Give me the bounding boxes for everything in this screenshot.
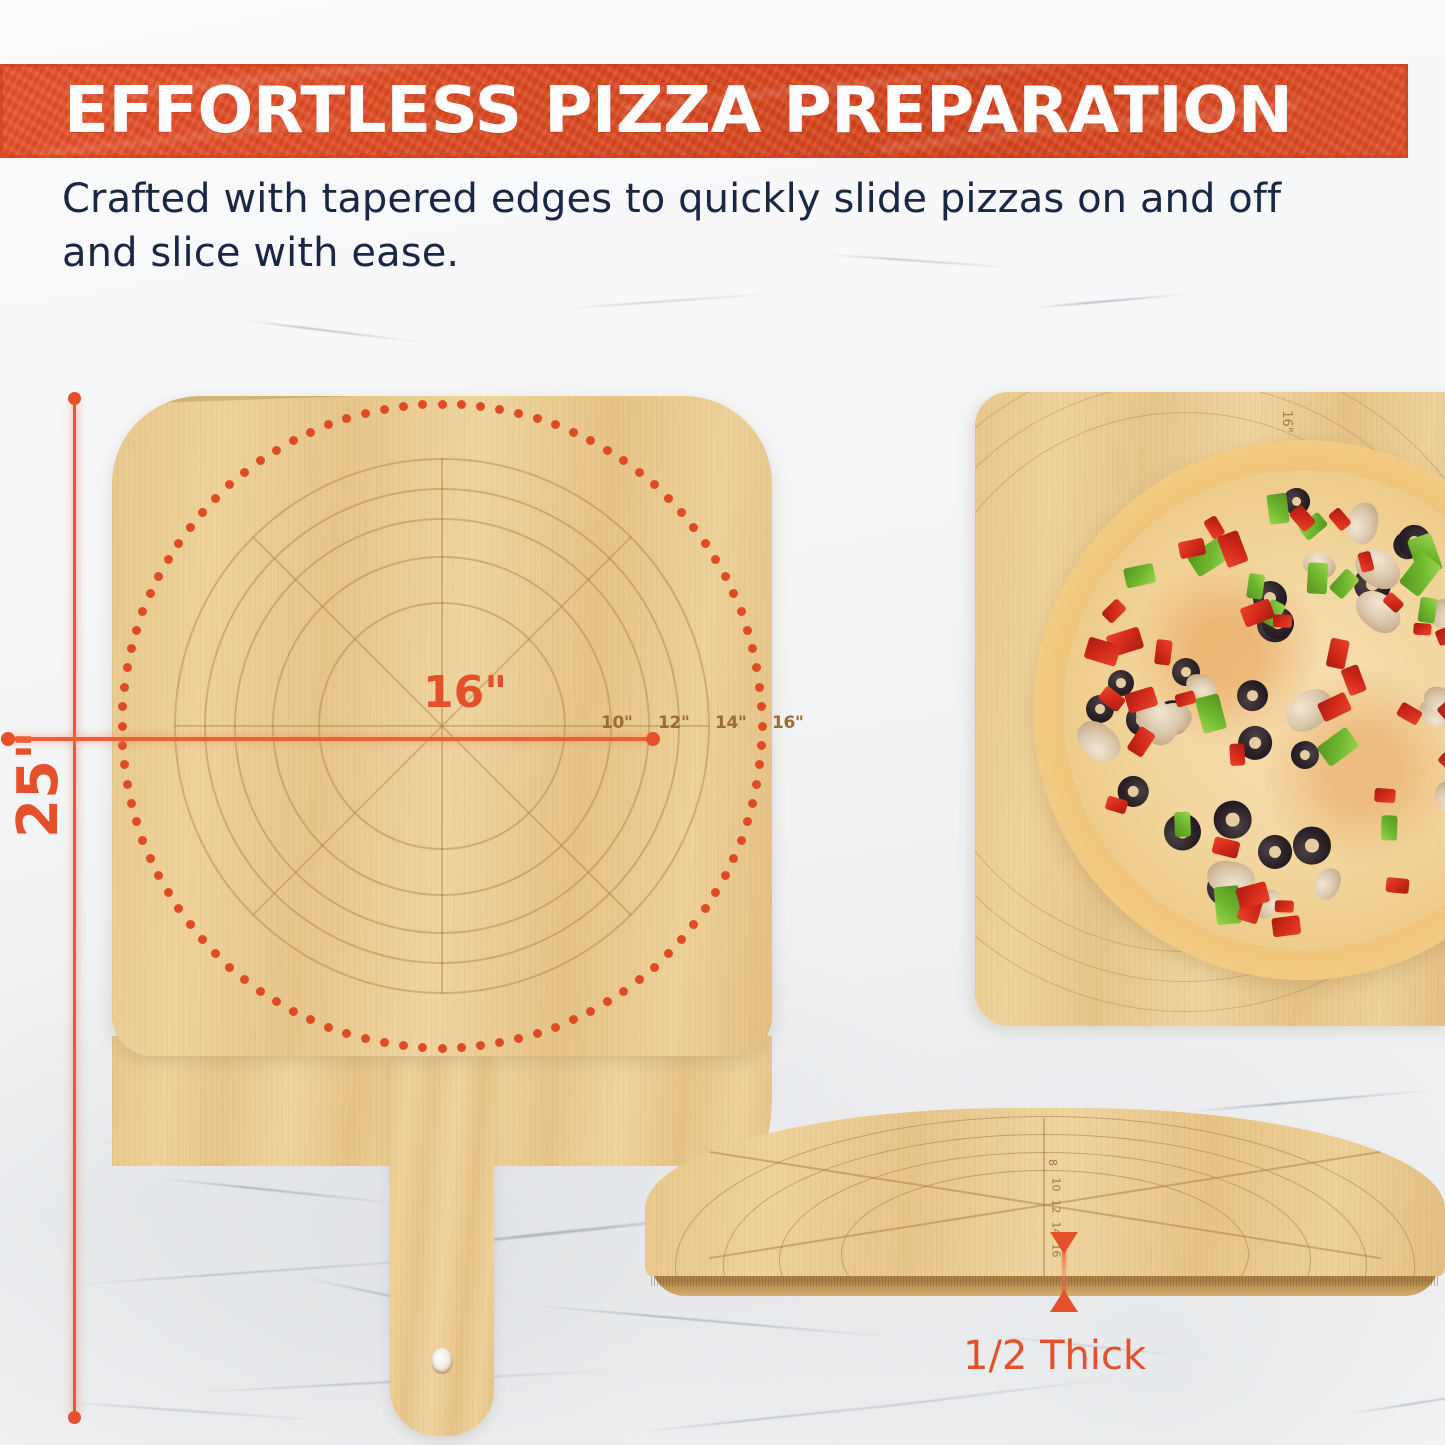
engraved-circle <box>272 556 612 896</box>
topping-red-pepper <box>1154 639 1173 665</box>
peel-handle <box>390 1051 494 1436</box>
marble-vein <box>560 292 780 309</box>
height-dimension-line <box>73 398 76 1418</box>
topping-green-pepper <box>1266 493 1289 525</box>
engraved-circle <box>234 518 650 934</box>
pizza-board-side-view: 810121416 <box>645 1108 1445 1323</box>
topping-red-pepper <box>1229 743 1245 766</box>
engraved-guide-line <box>1043 1118 1045 1276</box>
dimension-line-glow <box>8 731 653 747</box>
side-view-tick-label: 8 <box>1046 1159 1059 1166</box>
hang-hole-icon <box>431 1348 453 1374</box>
arrow-up-icon <box>1050 1290 1078 1312</box>
engraved-circle <box>318 602 566 850</box>
topping-red-pepper <box>1375 788 1396 803</box>
side-view-tick-label: 10 <box>1050 1178 1063 1192</box>
subtitle-text: Crafted with tapered edges to quickly sl… <box>62 172 1322 280</box>
topping-green-pepper <box>1307 562 1329 594</box>
topping-green-pepper <box>1381 815 1398 840</box>
topping-green-pepper <box>1173 811 1190 836</box>
topping-red-pepper <box>1271 916 1301 938</box>
engraved-guide-line <box>252 536 632 916</box>
marble-vein <box>1030 293 1190 309</box>
marble-vein <box>1341 1386 1445 1416</box>
marble-vein <box>241 319 420 343</box>
topping-red-pepper <box>1413 623 1432 636</box>
page-title: EFFORTLESS PIZZA PREPARATION <box>0 64 1408 158</box>
width-dimension-label: 16" <box>423 667 507 718</box>
dot-marker-icon <box>68 392 81 405</box>
ruler-tick-label: 14" <box>715 713 747 733</box>
arrow-down-icon <box>1050 1232 1078 1254</box>
ruler-tick-label: 10" <box>601 713 633 733</box>
header-banner: EFFORTLESS PIZZA PREPARATION <box>0 64 1408 158</box>
engraved-guide-line <box>252 536 632 916</box>
dot-marker-icon <box>646 732 660 746</box>
dimension-line-glow <box>67 398 83 1418</box>
infographic-canvas: EFFORTLESS PIZZA PREPARATION Crafted wit… <box>0 0 1445 1445</box>
topping-red-pepper <box>1273 614 1292 627</box>
width-dimension-line <box>8 737 653 741</box>
board-top-surface: 810121416 <box>645 1108 1445 1276</box>
side-view-tick-label: 12 <box>1050 1200 1063 1214</box>
engraved-guide-line <box>441 458 443 994</box>
board-engraved-mark: 16" <box>1279 410 1294 433</box>
topping-red-pepper <box>1275 900 1294 913</box>
marble-vein <box>821 1377 1119 1416</box>
thickness-indicator-line <box>1062 1250 1066 1294</box>
ruler-tick-label: 16" <box>772 713 804 733</box>
thickness-label: 1/2 Thick <box>963 1333 1146 1379</box>
dot-marker-icon <box>1 732 15 746</box>
ruler-tick-label: 12" <box>658 713 690 733</box>
topping-red-pepper <box>1385 877 1409 894</box>
dot-marker-icon <box>68 1411 81 1424</box>
pizza-board-photo: 16" <box>975 392 1445 1026</box>
